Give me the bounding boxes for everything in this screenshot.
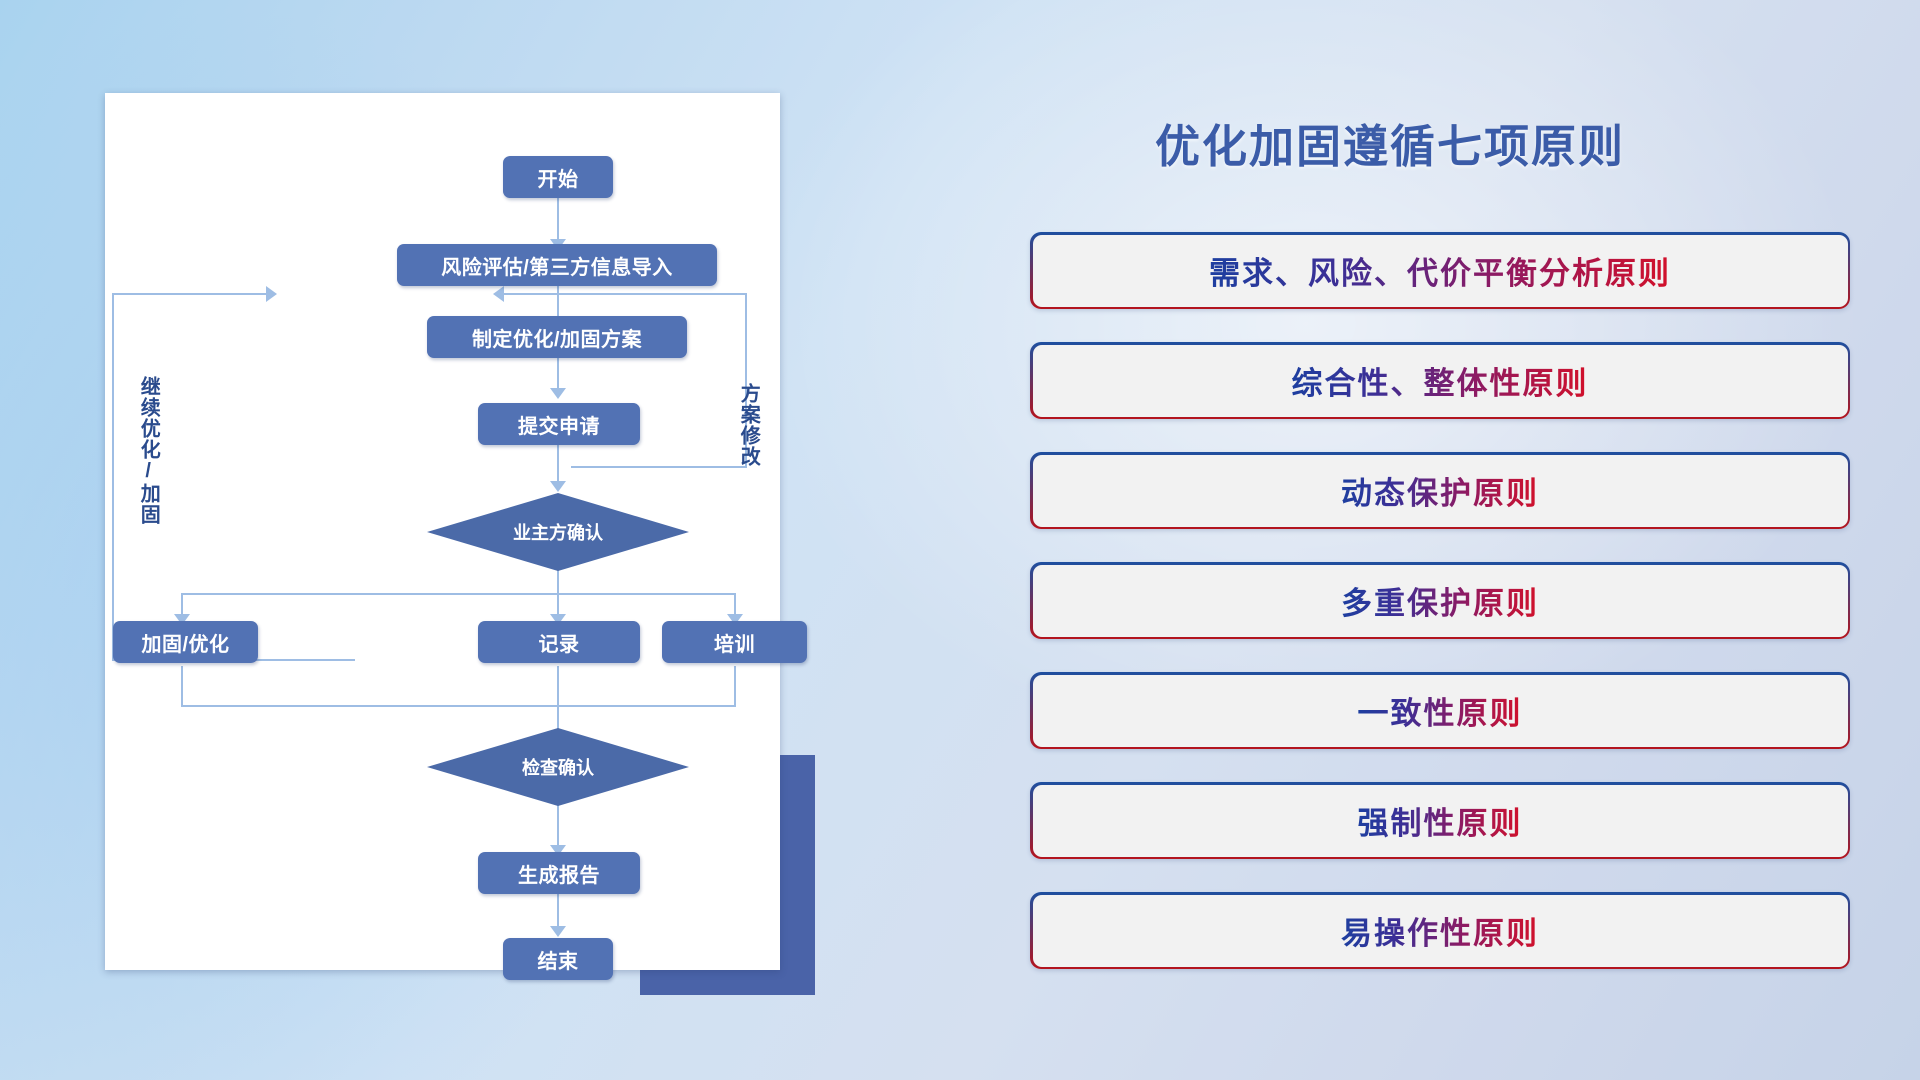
principle-item-5-inner: 一致性原则: [1033, 675, 1848, 747]
principle-item-3[interactable]: 动态保护原则: [1030, 452, 1850, 529]
principle-item-5[interactable]: 一致性原则: [1030, 672, 1850, 749]
node-submit-label: 提交申请: [518, 410, 600, 439]
flowchart-card: 继续优化/加固 方案修改 开始 风险评估/第三方信息导入 制定优化/加固方案 提…: [105, 93, 780, 970]
page-title: 优化加固遵循七项原则: [1155, 110, 1625, 175]
principle-item-2[interactable]: 综合性、整体性原则: [1030, 342, 1850, 419]
node-submit[interactable]: 提交申请: [478, 403, 640, 445]
principle-item-4-label: 多重保护原则: [1341, 578, 1539, 623]
right-loop-arrow: [493, 286, 504, 302]
left-loop-arrow: [266, 286, 277, 302]
node-reinforce[interactable]: 加固/优化: [113, 621, 258, 663]
left-loop-top: [112, 293, 270, 295]
node-training-label: 培训: [714, 628, 755, 657]
left-loop-vertical: [112, 293, 114, 661]
node-record-label: 记录: [539, 628, 580, 657]
node-start-label: 开始: [538, 163, 579, 192]
node-check-confirm[interactable]: 检查确认: [427, 728, 689, 806]
right-loop-top: [503, 293, 747, 295]
fanin-right-rise: [734, 666, 736, 707]
node-report[interactable]: 生成报告: [478, 852, 640, 894]
arrow-report-end: [550, 926, 566, 937]
edge-label-left-loop: 继续优化/加固: [137, 376, 158, 525]
node-end-label: 结束: [538, 945, 579, 974]
principle-item-4[interactable]: 多重保护原则: [1030, 562, 1850, 639]
node-owner-confirm[interactable]: 业主方确认: [427, 493, 689, 571]
principle-item-4-inner: 多重保护原则: [1033, 565, 1848, 637]
node-training[interactable]: 培训: [662, 621, 807, 663]
principles-panel: 优化加固遵循七项原则 需求、风险、代价平衡分析原则 综合性、整体性原则 动态保护…: [1020, 0, 1860, 1080]
principle-item-5-label: 一致性原则: [1358, 688, 1523, 733]
principle-item-6[interactable]: 强制性原则: [1030, 782, 1850, 859]
principle-item-3-label: 动态保护原则: [1341, 468, 1539, 513]
principle-item-2-inner: 综合性、整体性原则: [1033, 345, 1848, 417]
principle-item-1[interactable]: 需求、风险、代价平衡分析原则: [1030, 232, 1850, 309]
principle-item-6-inner: 强制性原则: [1033, 785, 1848, 857]
node-start[interactable]: 开始: [503, 156, 613, 198]
principle-item-7-label: 易操作性原则: [1341, 908, 1539, 953]
node-check-confirm-label: 检查确认: [522, 754, 594, 780]
node-report-label: 生成报告: [518, 859, 600, 888]
arrow-submit-confirm: [550, 481, 566, 492]
node-record[interactable]: 记录: [478, 621, 640, 663]
node-end[interactable]: 结束: [503, 938, 613, 980]
principle-item-7[interactable]: 易操作性原则: [1030, 892, 1850, 969]
right-loop-bottom: [571, 466, 747, 468]
principle-item-7-inner: 易操作性原则: [1033, 895, 1848, 967]
node-risk-assessment[interactable]: 风险评估/第三方信息导入: [397, 244, 717, 286]
node-risk-assessment-label: 风险评估/第三方信息导入: [441, 251, 673, 280]
principle-item-3-inner: 动态保护原则: [1033, 455, 1848, 527]
edge-label-right-loop: 方案修改: [737, 383, 758, 467]
node-reinforce-label: 加固/优化: [141, 628, 229, 657]
principle-item-6-label: 强制性原则: [1358, 798, 1523, 843]
fanin-left-rise: [181, 666, 183, 707]
node-plan-label: 制定优化/加固方案: [472, 323, 642, 352]
node-plan[interactable]: 制定优化/加固方案: [427, 316, 687, 358]
node-owner-confirm-label: 业主方确认: [513, 519, 603, 545]
principle-item-1-label: 需求、风险、代价平衡分析原则: [1209, 248, 1671, 293]
fanout-bus: [181, 593, 736, 595]
arrow-plan-submit: [550, 388, 566, 399]
fanin-bus: [181, 705, 736, 707]
principle-item-1-inner: 需求、风险、代价平衡分析原则: [1033, 235, 1848, 307]
principle-item-2-label: 综合性、整体性原则: [1292, 358, 1589, 403]
principle-list: 需求、风险、代价平衡分析原则 综合性、整体性原则 动态保护原则 多重保护原则 一…: [1030, 232, 1850, 1002]
